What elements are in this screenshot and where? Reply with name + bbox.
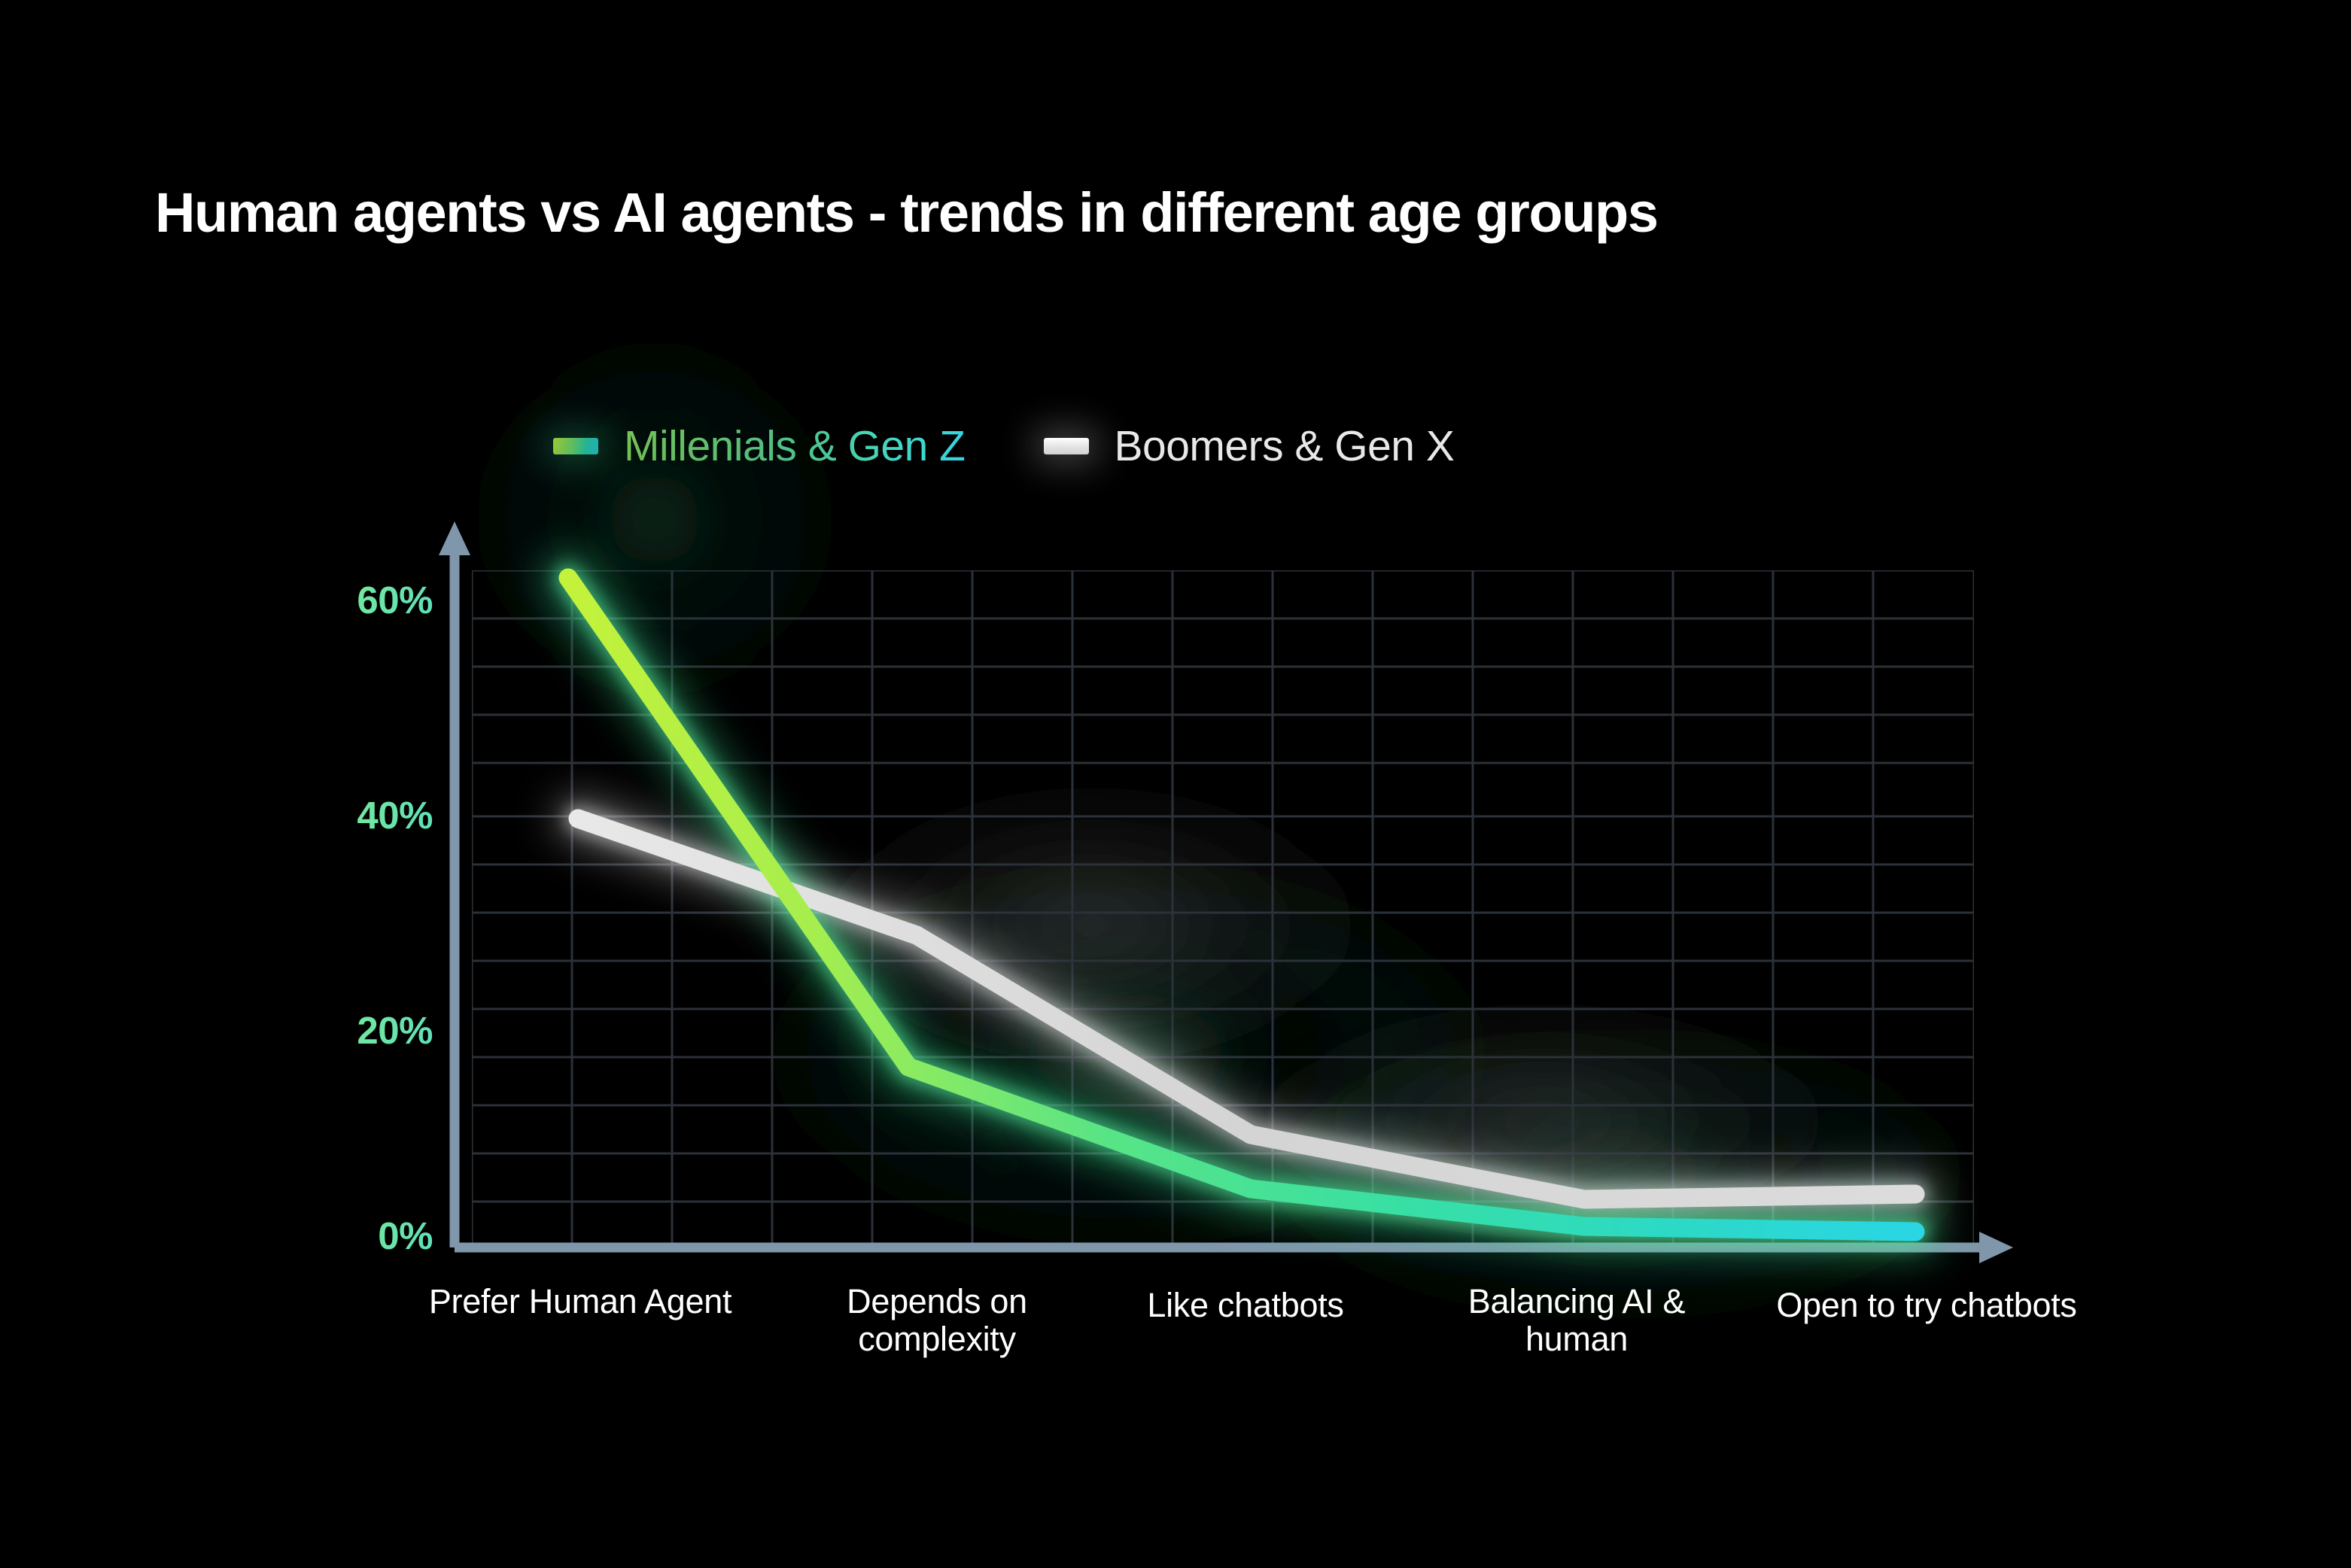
y-axis-tick-20: 20% xyxy=(275,1008,433,1053)
chart-canvas: Human agents vs AI agents - trends in di… xyxy=(0,0,2351,1568)
line-chart-svg xyxy=(0,0,2351,1568)
x-axis-tick-prefer-human-agent: Prefer Human Agent xyxy=(418,1283,742,1320)
x-axis-tick-balancing-ai-human: Balancing AI & human xyxy=(1415,1283,1738,1359)
x-axis-tick-depends-on-complexity: Depends on complexity xyxy=(775,1283,1099,1359)
plot-area: 60% 40% 20% 0% Prefer Human Agent Depend… xyxy=(0,0,2351,1568)
y-axis-tick-40: 40% xyxy=(275,793,433,837)
y-axis-tick-0: 0% xyxy=(275,1214,433,1258)
x-axis-tick-open-to-try-chatbots: Open to try chatbots xyxy=(1765,1287,2088,1324)
x-axis-tick-like-chatbots: Like chatbots xyxy=(1084,1287,1407,1324)
y-axis-tick-60: 60% xyxy=(275,578,433,622)
